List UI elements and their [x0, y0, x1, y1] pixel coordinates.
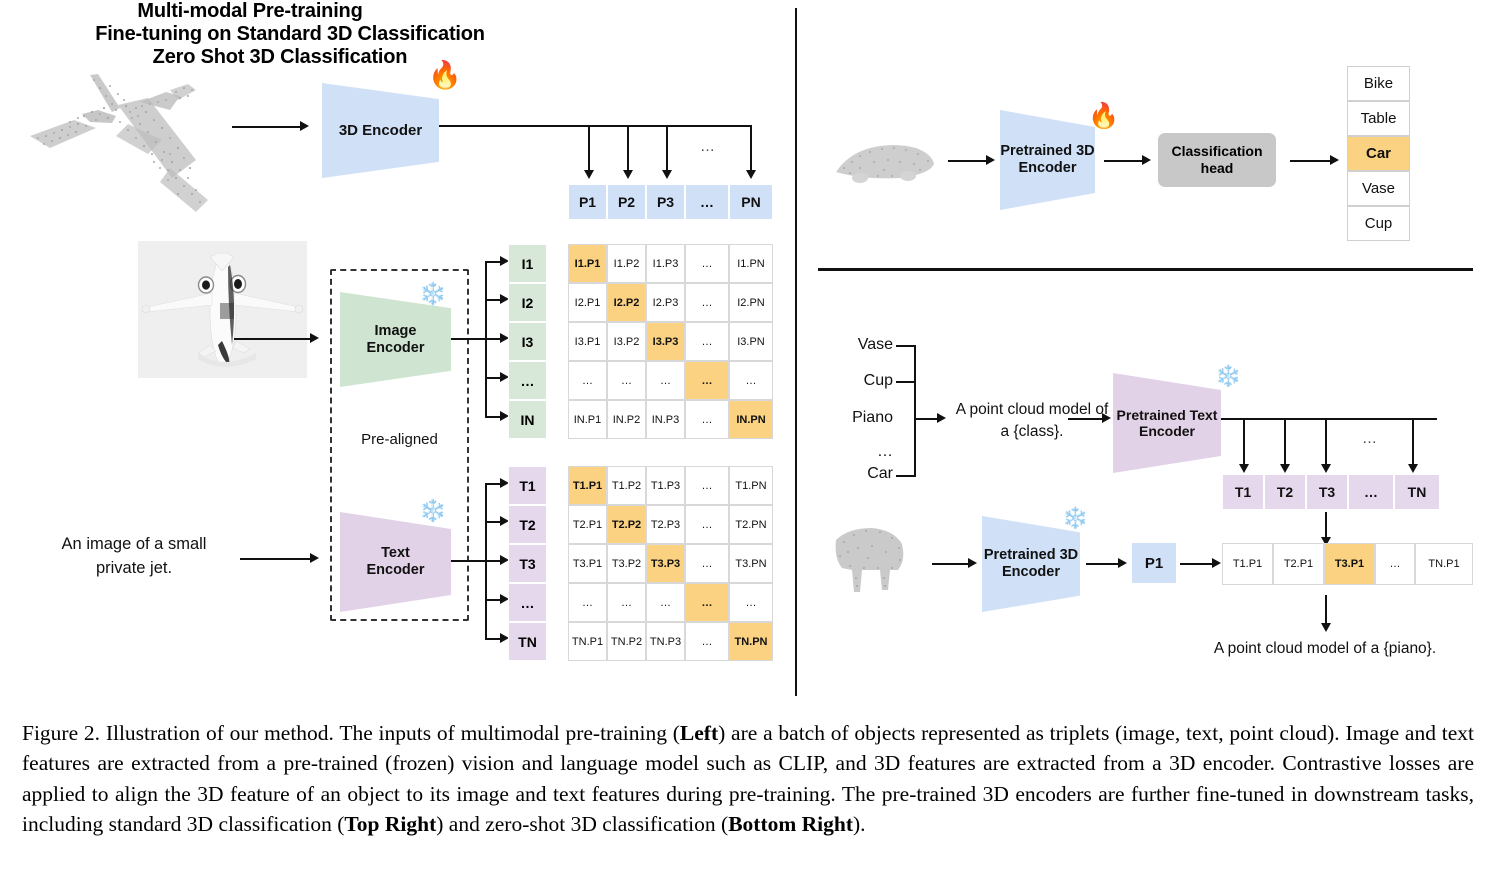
cell-tellp1[interactable]: …	[568, 583, 607, 622]
arrow-line-image-to-encoder	[234, 338, 312, 340]
branch-p3	[666, 125, 668, 172]
cell-t3pn[interactable]: T3.PN	[729, 544, 773, 583]
branch-zs-tn	[1412, 418, 1414, 466]
prompt-template: A point cloud model of a {class}.	[952, 399, 1112, 444]
arrow-head-zs-t1	[1239, 464, 1249, 473]
cell-inp3[interactable]: IN.P3	[646, 400, 685, 439]
cell-t2p2[interactable]: T2.P2	[607, 505, 646, 544]
encoder-image-label-line1: Image	[366, 323, 424, 340]
table-row: I2.P1 I2.P2 I2.P3 … I2.PN	[568, 283, 773, 322]
text-label-t1[interactable]: T1	[508, 466, 547, 505]
cell-t3p2[interactable]: T3.P2	[607, 544, 646, 583]
input-text-caption-line2: private jet.	[34, 557, 234, 581]
image-label-in[interactable]: IN	[508, 400, 547, 439]
encoder-image-label-line2: Encoder	[366, 340, 424, 357]
encoder-3d-label: 3D Encoder	[339, 122, 422, 139]
zs-text-token-tn[interactable]: TN	[1394, 474, 1440, 510]
point-token-p2[interactable]: P2	[607, 184, 646, 220]
brace-stem-to-prompt	[914, 418, 939, 420]
encoder-image[interactable]: Image Encoder	[340, 292, 451, 387]
arrow-line-score-to-result	[1325, 595, 1327, 625]
cell-inpell[interactable]: …	[685, 400, 729, 439]
snowflake-icon-text-encoder-zs: ❄️	[1215, 366, 1241, 387]
cell-t3p1[interactable]: T3.P1	[568, 544, 607, 583]
zs-class-vase[interactable]: Vase	[831, 336, 893, 354]
image-label-ellipsis[interactable]: …	[508, 361, 547, 400]
caption-mid2: ) and zero-shot 3D classification (	[436, 812, 728, 836]
point-token-pn[interactable]: PN	[729, 184, 773, 220]
cell-t2pn[interactable]: T2.PN	[729, 505, 773, 544]
encoder-3d[interactable]: 3D Encoder	[322, 83, 439, 178]
left-panel-title: Multi-modal Pre-training	[0, 0, 500, 23]
zs-class-cup[interactable]: Cup	[831, 372, 893, 390]
cell-i1pell[interactable]: …	[685, 244, 729, 283]
bus-line-text-tokens	[1221, 418, 1437, 420]
text-label-t3[interactable]: T3	[508, 544, 547, 583]
cell-tellpn[interactable]: …	[729, 583, 773, 622]
zs-text-token-ellipsis[interactable]: …	[1348, 474, 1394, 510]
zs-text-token-t2[interactable]: T2	[1264, 474, 1306, 510]
figure-caption: Figure 2. Illustration of our method. Th…	[22, 718, 1474, 839]
arrow-head-head-to-classes	[1330, 155, 1339, 165]
arrow-head-brace-to-prompt	[937, 413, 946, 423]
image-label-i1[interactable]: I1	[508, 244, 547, 283]
arrow-head-p3	[662, 170, 672, 179]
input-image-jet	[138, 241, 307, 378]
table-row: I1.P1 I1.P2 I1.P3 … I1.PN	[568, 244, 773, 283]
branch-pn	[750, 125, 752, 172]
zs-point-token-p1[interactable]: P1	[1132, 543, 1176, 583]
pre-aligned-label: Pre-aligned	[330, 431, 469, 448]
table-row: … … … … …	[568, 361, 773, 400]
cell-tnp2[interactable]: TN.P2	[607, 622, 646, 661]
table-row: T1.P1 T2.P1 T3.P1 … TN.P1	[1222, 543, 1473, 585]
class-option-table[interactable]: Table	[1347, 101, 1410, 136]
table-row: T1.P1 T1.P2 T1.P3 … T1.PN	[568, 466, 773, 505]
prompt-template-line2: a {class}.	[952, 421, 1112, 443]
caption-bold-top-right: Top Right	[344, 812, 436, 836]
cell-t3p3[interactable]: T3.P3	[646, 544, 685, 583]
cell-tellpell[interactable]: …	[685, 583, 729, 622]
cell-i3p3[interactable]: I3.P3	[646, 322, 685, 361]
branch-zs-t2	[1284, 418, 1286, 466]
zs-score-t3p1[interactable]: T3.P1	[1324, 543, 1375, 585]
figure-canvas: Multi-modal Pre-training	[0, 0, 1490, 705]
table-row: T3.P1 T3.P2 T3.P3 … T3.PN	[568, 544, 773, 583]
cell-tnpell[interactable]: …	[685, 622, 729, 661]
cell-tnp3[interactable]: TN.P3	[646, 622, 685, 661]
cell-i3pn[interactable]: I3.PN	[729, 322, 773, 361]
table-row: … … … … …	[568, 583, 773, 622]
cell-t1p1[interactable]: T1.P1	[568, 466, 607, 505]
cell-t1pn[interactable]: T1.PN	[729, 466, 773, 505]
arrow-head-score-to-result	[1321, 623, 1331, 632]
zeroshot-score-row: T1.P1 T2.P1 T3.P1 … TN.P1	[1222, 543, 1473, 585]
point-cloud-piano	[828, 518, 920, 598]
encoder-pretrained-text-label-line1: Pretrained Text	[1117, 407, 1218, 423]
encoder-pretrained-3d-zs-label-line2: Encoder	[984, 564, 1078, 581]
arrow-head-p2	[623, 170, 633, 179]
table-row: IN.P1 IN.P2 IN.P3 … IN.PN	[568, 400, 773, 439]
zs-text-token-t3[interactable]: T3	[1306, 474, 1348, 510]
input-text-caption-line1: An image of a small	[34, 533, 234, 557]
brace-spine	[914, 345, 916, 476]
branch-p2	[627, 125, 629, 172]
zs-class-ellipsis: …	[831, 443, 893, 461]
image-point-similarity-matrix: I1.P1 I1.P2 I1.P3 … I1.PN I2.P1 I2.P2 I2…	[568, 244, 773, 439]
arrow-line-p1-to-scores	[1180, 563, 1214, 565]
encoder-text-label-line1: Text	[366, 545, 424, 562]
cell-t1pell[interactable]: …	[685, 466, 729, 505]
text-label-ellipsis[interactable]: …	[508, 583, 547, 622]
arrow-line-cloud-to-3d-encoder	[232, 126, 302, 128]
branch-zs-t3	[1325, 418, 1327, 466]
cell-i2p1[interactable]: I2.P1	[568, 283, 607, 322]
encoder-pretrained-3d-zeroshot[interactable]: Pretrained 3D Encoder	[982, 516, 1080, 612]
caption-bold-left: Left	[680, 721, 718, 745]
arrow-line-encoder-to-p1	[1086, 563, 1120, 565]
point-cloud-airplane	[20, 50, 250, 225]
zs-text-token-t1[interactable]: T1	[1222, 474, 1264, 510]
zs-score-t1p1[interactable]: T1.P1	[1222, 543, 1273, 585]
arrow-head-p1	[584, 170, 594, 179]
cell-t3pell[interactable]: …	[685, 544, 729, 583]
ellipsis-zs-t-branches: …	[1362, 430, 1377, 447]
fan-stem-image	[451, 338, 486, 340]
image-label-i2[interactable]: I2	[508, 283, 547, 322]
cell-tellp2[interactable]: …	[607, 583, 646, 622]
cell-t2p3[interactable]: T2.P3	[646, 505, 685, 544]
cell-t2p1[interactable]: T2.P1	[568, 505, 607, 544]
snowflake-icon-3d-encoder-zs: ❄️	[1062, 508, 1088, 529]
arrow-head-text-to-encoder	[310, 553, 319, 563]
encoder-pretrained-text[interactable]: Pretrained Text Encoder	[1113, 373, 1221, 473]
input-text-caption: An image of a small private jet.	[34, 533, 234, 581]
cell-iellp1[interactable]: …	[568, 361, 607, 400]
arrow-head-cloud-to-3d-encoder	[300, 121, 309, 131]
brace-tick-car	[896, 475, 916, 477]
cell-iellp2[interactable]: …	[607, 361, 646, 400]
cell-i2pn[interactable]: I2.PN	[729, 283, 773, 322]
panel-divider-vertical	[795, 8, 797, 696]
caption-bold-bottom-right: Bottom Right	[728, 812, 853, 836]
fire-icon-3d-encoder: 🔥	[428, 62, 462, 89]
arrow-head-image-to-encoder	[310, 333, 319, 343]
encoder-text[interactable]: Text Encoder	[340, 512, 451, 612]
encoder-text-label-line2: Encoder	[366, 562, 424, 579]
cell-iellpn[interactable]: …	[729, 361, 773, 400]
bus-line-3d-encoder	[439, 125, 752, 127]
point-token-p1[interactable]: P1	[568, 184, 607, 220]
classification-head-label-line2: head	[1171, 160, 1262, 177]
cell-i3p1[interactable]: I3.P1	[568, 322, 607, 361]
text-label-column: T1 T2 T3 … TN	[508, 466, 547, 661]
branch-zs-t1	[1243, 418, 1245, 466]
branch-p1	[588, 125, 590, 172]
classification-head[interactable]: Classification head	[1158, 133, 1276, 187]
fire-icon-finetune-encoder: 🔥	[1088, 104, 1119, 129]
arrow-line-text-to-encoder	[240, 558, 312, 560]
arrow-head-prompt-to-text-encoder	[1102, 413, 1111, 423]
zs-score-ellipsis[interactable]: …	[1375, 543, 1415, 585]
cell-t1p3[interactable]: T1.P3	[646, 466, 685, 505]
zs-class-piano[interactable]: Piano	[822, 409, 893, 427]
zs-score-tnp1[interactable]: TN.P1	[1415, 543, 1473, 585]
snowflake-icon-image-encoder: ❄️	[419, 283, 446, 305]
arrow-line-car-to-encoder	[948, 160, 988, 162]
cell-t1p2[interactable]: T1.P2	[607, 466, 646, 505]
encoder-pretrained-text-label-line2: Encoder	[1117, 423, 1218, 439]
arrow-head-pn	[746, 170, 756, 179]
encoder-pretrained-3d-zs-label-line1: Pretrained 3D	[984, 547, 1078, 564]
cell-i1p1[interactable]: I1.P1	[568, 244, 607, 283]
arrow-head-p1-to-scores	[1212, 558, 1221, 568]
snowflake-icon-text-encoder: ❄️	[419, 500, 446, 522]
zs-text-token-strip: T1 T2 T3 … TN	[1222, 474, 1440, 510]
cell-tellp3[interactable]: …	[646, 583, 685, 622]
arrow-head-encoder-to-p1	[1118, 558, 1127, 568]
arrow-head-car-to-encoder	[986, 155, 995, 165]
point-cloud-car	[830, 130, 940, 190]
cell-i1p2[interactable]: I1.P2	[607, 244, 646, 283]
zs-score-t2p1[interactable]: T2.P1	[1273, 543, 1324, 585]
class-prediction-list: Bike Table Car Vase Cup	[1347, 66, 1410, 241]
text-label-tn[interactable]: TN	[508, 622, 547, 661]
table-row: T2.P1 T2.P2 T2.P3 … T2.PN	[568, 505, 773, 544]
cell-i3pell[interactable]: …	[685, 322, 729, 361]
arrow-line-prompt-to-text-encoder	[1068, 418, 1104, 420]
cell-inp2[interactable]: IN.P2	[607, 400, 646, 439]
cell-i1p3[interactable]: I1.P3	[646, 244, 685, 283]
zs-class-car[interactable]: Car	[831, 465, 893, 483]
top-right-panel-title: Fine-tuning on Standard 3D Classificatio…	[0, 23, 580, 46]
class-option-cup[interactable]: Cup	[1347, 206, 1410, 241]
caption-suffix: ).	[853, 812, 866, 836]
encoder-pretrained-3d-finetune[interactable]: Pretrained 3D Encoder	[1000, 110, 1095, 210]
cell-tnp1[interactable]: TN.P1	[568, 622, 607, 661]
arrow-head-encoder-to-head	[1142, 155, 1151, 165]
arrow-line-piano-to-encoder	[932, 563, 970, 565]
table-row: I3.P1 I3.P2 I3.P3 … I3.PN	[568, 322, 773, 361]
image-label-column: I1 I2 I3 … IN	[508, 244, 547, 439]
text-label-t2[interactable]: T2	[508, 505, 547, 544]
arrow-head-piano-to-encoder	[968, 558, 977, 568]
encoder-pretrained-3d-label-line2: Encoder	[1000, 160, 1094, 177]
class-option-bike[interactable]: Bike	[1347, 66, 1410, 101]
caption-prefix: Figure 2. Illustration of our method. Th…	[22, 721, 680, 745]
cell-i2pell[interactable]: …	[685, 283, 729, 322]
cell-inp1[interactable]: IN.P1	[568, 400, 607, 439]
cell-i2p2[interactable]: I2.P2	[607, 283, 646, 322]
cell-iellp3[interactable]: …	[646, 361, 685, 400]
arrow-line-t3-to-score	[1325, 512, 1327, 539]
arrow-head-zs-t2	[1280, 464, 1290, 473]
cell-tnpn[interactable]: TN.PN	[729, 622, 773, 661]
cell-i1pn[interactable]: I1.PN	[729, 244, 773, 283]
class-option-vase[interactable]: Vase	[1347, 171, 1410, 206]
cell-t2pell[interactable]: …	[685, 505, 729, 544]
cell-i3p2[interactable]: I3.P2	[607, 322, 646, 361]
ellipsis-p-branches: …	[700, 138, 715, 155]
encoder-pretrained-3d-label-line1: Pretrained 3D	[1000, 143, 1094, 160]
class-option-car[interactable]: Car	[1347, 136, 1410, 171]
brace-tick-vase	[896, 345, 916, 347]
table-row: TN.P1 TN.P2 TN.P3 … TN.PN	[568, 622, 773, 661]
point-token-ellipsis[interactable]: …	[685, 184, 729, 220]
point-token-strip: P1 P2 P3 … PN	[568, 184, 773, 220]
arrow-head-zs-t3	[1321, 464, 1331, 473]
image-label-i3[interactable]: I3	[508, 322, 547, 361]
brace-tick-cup	[896, 381, 916, 383]
panel-divider-horizontal	[818, 268, 1473, 271]
classification-head-label-line1: Classification	[1171, 143, 1262, 160]
arrow-line-head-to-classes	[1290, 160, 1332, 162]
fan-stem-text	[451, 560, 486, 562]
cell-inpn[interactable]: IN.PN	[729, 400, 773, 439]
zeroshot-result-text: A point cloud model of a {piano}.	[1180, 640, 1470, 658]
point-token-p3[interactable]: P3	[646, 184, 685, 220]
cell-iellpell[interactable]: …	[685, 361, 729, 400]
arrow-line-encoder-to-head	[1104, 160, 1144, 162]
cell-i2p3[interactable]: I2.P3	[646, 283, 685, 322]
text-point-similarity-matrix: T1.P1 T1.P2 T1.P3 … T1.PN T2.P1 T2.P2 T2…	[568, 466, 773, 661]
arrow-head-zs-tn	[1408, 464, 1418, 473]
